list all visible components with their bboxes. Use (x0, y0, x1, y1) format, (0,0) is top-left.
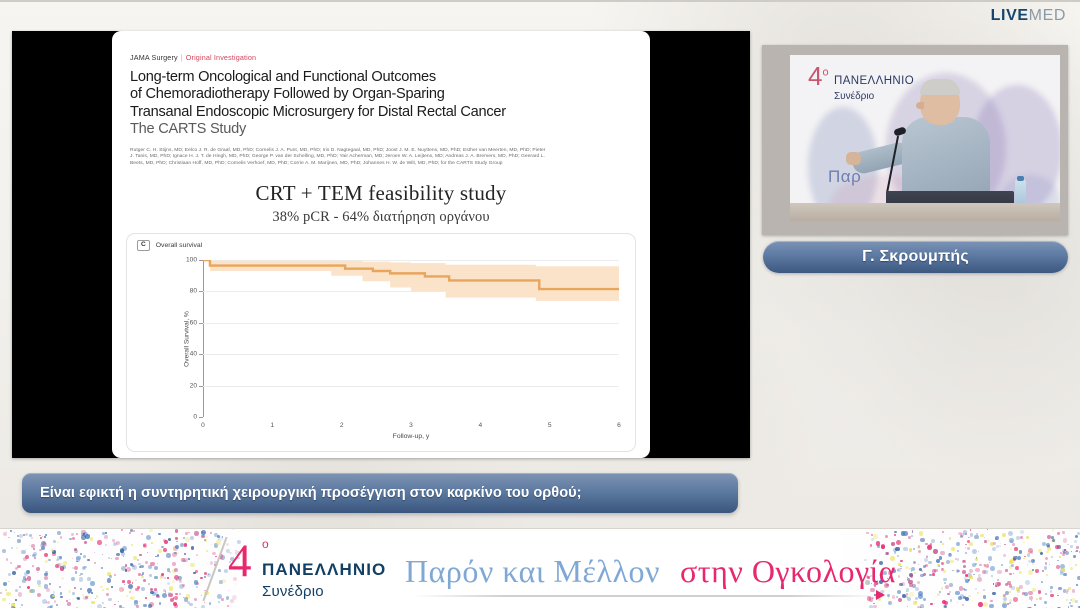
splatter-dot (1020, 530, 1024, 534)
splatter-dot (913, 601, 916, 604)
splatter-dot (6, 558, 9, 561)
splatter-dot (919, 531, 923, 535)
splatter-dot (82, 566, 86, 570)
splatter-dot (911, 535, 913, 537)
splatter-dot (965, 544, 967, 546)
splatter-dot (72, 592, 75, 595)
splatter-dot (1034, 604, 1036, 606)
splatter-dot (949, 583, 953, 587)
splatter-dot (200, 577, 202, 579)
splatter-dot (148, 604, 152, 608)
splatter-dot (204, 576, 206, 578)
splatter-dot (131, 544, 133, 546)
splatter-dot (1004, 544, 1005, 545)
splatter-dot (38, 585, 41, 588)
splatter-dot (951, 547, 955, 551)
splatter-dot (97, 604, 102, 608)
splatter-dot (920, 604, 924, 608)
splatter-dot (90, 537, 93, 540)
splatter-dot (969, 576, 972, 579)
splatter-dot (196, 586, 198, 588)
splatter-dot (963, 588, 965, 590)
article-title-line2: of Chemoradiotherapy Followed by Organ-S… (130, 86, 632, 103)
splatter-dot (972, 549, 977, 554)
splatter-dot (993, 583, 994, 584)
splatter-dot (72, 558, 73, 559)
splatter-dot (137, 559, 139, 561)
splatter-dot (963, 565, 966, 568)
splatter-dot (140, 565, 143, 568)
splatter-dot (1028, 570, 1033, 575)
backdrop-number: 4o (808, 63, 829, 89)
splatter-dot (12, 571, 16, 575)
splatter-dot (60, 592, 62, 594)
banner-main-title-blue: Παρόν και Μέλλον (405, 553, 660, 590)
splatter-dot (139, 566, 141, 568)
splatter-dot (986, 564, 990, 568)
hero-subheadline: 38% pCR - 64% διατήρηση οργάνου (130, 209, 632, 226)
splatter-dot (39, 549, 41, 551)
splatter-dot (135, 579, 137, 581)
splatter-dot (1023, 558, 1025, 560)
splatter-dot (1025, 580, 1030, 585)
speaker-hand (846, 152, 861, 165)
splatter-dot (6, 592, 10, 596)
splatter-dot (896, 540, 901, 545)
splatter-dot (903, 547, 908, 552)
splatter-dot (1033, 560, 1034, 561)
splatter-dot (22, 579, 26, 583)
splatter-dot (63, 561, 67, 565)
splatter-dot (997, 579, 999, 581)
splatter-dot (1038, 590, 1041, 593)
splatter-dot (1070, 605, 1073, 608)
splatter-dot (105, 532, 107, 534)
author-list: Rutger C. H. Stijns, MD; Eelco J. R. de … (130, 148, 550, 168)
splatter-dot (111, 586, 113, 588)
splatter-dot (126, 595, 127, 596)
splatter-dot (968, 537, 969, 538)
splatter-dot (67, 554, 68, 555)
splatter-dot (943, 570, 946, 573)
splatter-dot (1072, 589, 1075, 592)
splatter-dot (25, 533, 28, 536)
splatter-dot (175, 593, 178, 596)
splatter-dot (44, 584, 48, 588)
splatter-dot (129, 532, 131, 534)
splatter-dot (91, 592, 93, 594)
splatter-dot (931, 539, 935, 543)
splatter-dot (51, 549, 54, 552)
splatter-dot (1057, 595, 1058, 596)
splatter-dot (979, 531, 980, 532)
splatter-dot (150, 591, 153, 594)
splatter-dot (999, 545, 1001, 547)
splatter-dot (34, 557, 36, 559)
splatter-dot (1032, 563, 1034, 565)
slide-viewer[interactable]: JAMA Surgery|Original Investigation Long… (12, 31, 750, 458)
splatter-dot (1030, 551, 1033, 554)
panel-letter-badge: C (137, 240, 150, 251)
splatter-dot (1045, 562, 1047, 564)
splatter-dot (21, 550, 25, 554)
splatter-dot (122, 580, 125, 583)
logo-med-text: MED (1029, 7, 1066, 24)
splatter-dot (76, 561, 77, 562)
splatter-dot (1062, 531, 1065, 534)
splatter-dot (204, 572, 207, 575)
splatter-dot (129, 591, 131, 593)
splatter-dot (174, 596, 178, 600)
splatter-dot (945, 585, 949, 589)
survival-figure: C Overall survival 020406080100 0123456 (126, 233, 636, 452)
splatter-dot (952, 570, 954, 572)
splatter-dot (172, 580, 175, 583)
top-divider (0, 0, 1080, 2)
splatter-dot (912, 531, 913, 532)
splatter-dot (114, 574, 116, 576)
splatter-dot (128, 584, 133, 589)
splatter-dot (151, 542, 153, 544)
splatter-dot (1009, 602, 1011, 604)
splatter-dot (957, 558, 959, 560)
splatter-dot (1013, 597, 1018, 602)
splatter-dot (1075, 535, 1078, 538)
y-tick-label: 0 (193, 414, 197, 421)
splatter-dot (167, 577, 168, 578)
splatter-dot (75, 571, 77, 573)
splatter-dot (148, 583, 150, 585)
splatter-dot (1003, 554, 1006, 557)
splatter-dot (16, 547, 19, 550)
splatter-dot (119, 587, 124, 592)
splatter-dot (908, 536, 911, 539)
splatter-dot (1047, 535, 1051, 539)
splatter-dot (873, 534, 878, 539)
splatter-dot (72, 537, 75, 540)
splatter-dot (958, 596, 962, 600)
splatter-dot (113, 542, 117, 546)
splatter-dot (194, 580, 199, 585)
splatter-dot (164, 577, 166, 579)
splatter-dot (204, 539, 206, 541)
splatter-dot (88, 592, 90, 594)
splatter-dot (1009, 584, 1012, 587)
splatter-dot (989, 562, 990, 563)
splatter-dot (15, 567, 18, 570)
splatter-dot (930, 603, 933, 606)
splatter-dot (134, 602, 138, 606)
splatter-dot (27, 576, 32, 581)
splatter-dot (3, 582, 7, 586)
splatter-dot (141, 576, 143, 578)
backdrop-synedrio: Συνέδριο (834, 91, 874, 102)
splatter-dot (37, 580, 42, 585)
splatter-dot (76, 533, 78, 535)
splatter-dot (206, 550, 208, 552)
splatter-dot (189, 603, 192, 606)
splatter-dot (133, 530, 135, 532)
splatter-dot (923, 598, 926, 601)
splatter-dot (56, 559, 58, 561)
splatter-dot (1013, 573, 1014, 574)
splatter-dot (1074, 540, 1077, 543)
splatter-dot (1026, 536, 1029, 539)
splatter-dot (204, 602, 205, 603)
splatter-dot (909, 583, 913, 587)
article-title-line1: Long-term Oncological and Functional Out… (130, 69, 632, 86)
speaker-video[interactable]: 4o ΠΑΝΕΛΛΗΝΙΟ Συνέδριο Παρ έλλον ογία (762, 45, 1068, 235)
splatter-dot (947, 593, 949, 595)
splatter-dot (988, 556, 993, 561)
speaker-hair (920, 79, 960, 95)
splatter-dot (990, 566, 995, 571)
splatter-dot (143, 543, 147, 547)
splatter-dot (108, 598, 112, 602)
splatter-dot (154, 576, 158, 580)
splatter-dot (175, 537, 179, 541)
splatter-dot (1016, 536, 1020, 540)
splatter-dot (885, 535, 888, 538)
splatter-dot (116, 553, 119, 556)
splatter-dot (932, 569, 936, 573)
splatter-dot (942, 543, 944, 545)
splatter-dot (15, 599, 17, 601)
splatter-dot (47, 601, 50, 604)
splatter-dot (80, 573, 82, 575)
splatter-dot (918, 545, 921, 548)
splatter-dot (929, 574, 932, 577)
splatter-dot (1062, 553, 1065, 556)
splatter-dot (898, 598, 902, 602)
plot-region: 020406080100 0123456 Overall Survival, %… (203, 260, 619, 417)
splatter-dot (928, 561, 932, 565)
article-title: Long-term Oncological and Functional Out… (130, 69, 632, 139)
splatter-dot (1076, 550, 1078, 552)
splatter-dot (55, 564, 59, 568)
splatter-dot (156, 595, 160, 599)
splatter-dot (1019, 550, 1023, 554)
article-title-line3: Transanal Endoscopic Microsurgery for Di… (130, 104, 632, 121)
splatter-dot (105, 544, 107, 546)
splatter-dot (1049, 564, 1050, 565)
splatter-dot (876, 541, 880, 545)
splatter-dot (1040, 552, 1043, 555)
splatter-dot (11, 547, 13, 549)
splatter-dot (80, 588, 82, 590)
splatter-dot (962, 570, 966, 574)
splatter-dot (946, 560, 950, 564)
splatter-dot (130, 589, 132, 591)
splatter-dot (1058, 587, 1061, 590)
splatter-dot (1027, 553, 1031, 557)
splatter-dot (100, 586, 102, 588)
splatter-dot (1061, 568, 1065, 572)
speaker-name-text: Γ. Σκρουμπής (862, 248, 969, 266)
splatter-dot (997, 582, 1001, 586)
splatter-dot (975, 558, 978, 561)
splatter-dot (176, 541, 177, 542)
splatter-dot (984, 537, 985, 538)
splatter-dot (965, 579, 969, 583)
splatter-dot (965, 597, 969, 601)
splatter-dot (102, 589, 104, 591)
splatter-dot (906, 593, 908, 595)
splatter-dot (191, 546, 194, 549)
splatter-dot (159, 602, 162, 605)
splatter-dot (184, 543, 188, 547)
article-subtitle: The CARTS Study (130, 121, 632, 138)
splatter-dot (1011, 564, 1014, 567)
splatter-dot (158, 533, 161, 536)
splatter-dot (150, 562, 154, 566)
splatter-dot (145, 597, 147, 599)
splatter-dot (48, 559, 50, 561)
splatter-dot (160, 578, 162, 580)
splatter-dot (104, 535, 108, 539)
splatter-dot (1075, 600, 1078, 603)
splatter-dot (137, 586, 140, 589)
splatter-dot (53, 540, 56, 543)
splatter-dot (44, 576, 48, 580)
splatter-dot (80, 553, 82, 555)
splatter-dot (164, 540, 168, 544)
splatter-dot (1052, 529, 1054, 531)
splatter-dot (96, 595, 99, 598)
splatter-dot (97, 540, 101, 544)
splatter-dot (184, 553, 186, 555)
splatter-dot (1057, 560, 1059, 562)
splatter-dot (1010, 548, 1012, 550)
splatter-dot (1059, 556, 1061, 558)
splatter-dot (141, 587, 146, 592)
splatter-dot (158, 549, 163, 554)
splatter-dot (1065, 551, 1069, 555)
splatter-dot (188, 532, 190, 534)
splatter-dot (10, 562, 13, 565)
splatter-dot (989, 604, 994, 608)
splatter-dot (118, 601, 119, 602)
splatter-dot (32, 565, 34, 567)
banner-panellinio: ΠΑΝΕΛΛΗΝΙΟ (262, 560, 386, 580)
splatter-dot (1009, 591, 1011, 593)
splatter-dot (175, 529, 179, 533)
y-tick-label: 40 (190, 351, 197, 358)
banner-underline (412, 595, 882, 597)
splatter-dot (903, 531, 908, 536)
splatter-dot (3, 532, 7, 536)
splatter-dot (157, 563, 158, 564)
splatter-dot (1051, 556, 1053, 558)
splatter-dot (101, 567, 103, 569)
splatter-dot (956, 542, 961, 547)
splatter-dot (8, 581, 10, 583)
splatter-dot (183, 558, 188, 563)
splatter-dot (8, 573, 11, 576)
splatter-dot (139, 601, 140, 602)
splatter-dot (1005, 569, 1007, 571)
splatter-dot (91, 606, 92, 607)
splatter-dot (995, 585, 997, 587)
splatter-dot (1032, 588, 1036, 592)
splatter-dot (145, 561, 148, 564)
y-axis-label: Overall Survival, % (183, 311, 190, 367)
splatter-dot (1046, 574, 1048, 576)
splatter-dot (71, 533, 74, 536)
x-tick-label: 6 (617, 422, 621, 429)
x-axis-label: Follow-up, y (393, 433, 430, 440)
splatter-dot (920, 538, 925, 543)
splatter-dot (168, 538, 171, 541)
splatter-dot (19, 534, 23, 538)
splatter-dot (1070, 545, 1073, 548)
logo-live-text: LIVE (991, 7, 1029, 24)
splatter-dot (873, 603, 874, 604)
splatter-dot (957, 602, 958, 603)
splatter-dot (992, 592, 996, 596)
splatter-dot (114, 604, 115, 605)
splatter-dot (138, 563, 140, 565)
splatter-dot (1067, 544, 1068, 545)
splatter-dot (176, 580, 177, 581)
splatter-dot (1002, 533, 1006, 537)
splatter-dot (969, 569, 972, 572)
splatter-dot (52, 595, 54, 597)
splatter-dot (149, 574, 152, 577)
splatter-dot (44, 573, 47, 576)
splatter-dot (141, 533, 143, 535)
splatter-dot (60, 536, 62, 538)
splatter-dot (42, 536, 43, 537)
splatter-dot (1042, 570, 1044, 572)
splatter-dot (1005, 591, 1009, 595)
splatter-dot (201, 595, 203, 597)
splatter-dot (79, 577, 83, 581)
splatter-dot (147, 552, 148, 553)
splatter-dot (60, 563, 63, 566)
splatter-dot (94, 552, 95, 553)
splatter-dot (1017, 590, 1020, 593)
splatter-dot (49, 583, 50, 584)
splatter-dot (188, 558, 190, 560)
splatter-dot (959, 586, 964, 591)
speaker-name-bar: Γ. Σκρουμπής (763, 241, 1068, 273)
splatter-dot (977, 577, 982, 582)
splatter-dot (36, 567, 40, 571)
banner-synedrio: Συνέδριο (262, 583, 324, 600)
splatter-dot (124, 584, 125, 585)
splatter-dot (939, 591, 941, 593)
splatter-dot (1017, 594, 1019, 596)
splatter-dot (992, 547, 996, 551)
splatter-dot (983, 595, 987, 599)
splatter-dot (102, 602, 104, 604)
session-title-text: Είναι εφικτή η συντηρητική χειρουργική π… (40, 485, 581, 501)
kaplan-meier-curve (203, 260, 619, 417)
splatter-dot (190, 536, 194, 540)
splatter-dot (1045, 557, 1049, 561)
splatter-dot (94, 562, 97, 565)
splatter-dot (102, 554, 103, 555)
splatter-dot (983, 602, 988, 607)
splatter-dot (948, 553, 952, 557)
splatter-dot (0, 592, 2, 594)
splatter-dot (174, 604, 178, 608)
splatter-dot (190, 563, 195, 568)
splatter-dot (965, 547, 967, 549)
splatter-dot (995, 536, 999, 540)
splatter-dot (160, 575, 163, 578)
